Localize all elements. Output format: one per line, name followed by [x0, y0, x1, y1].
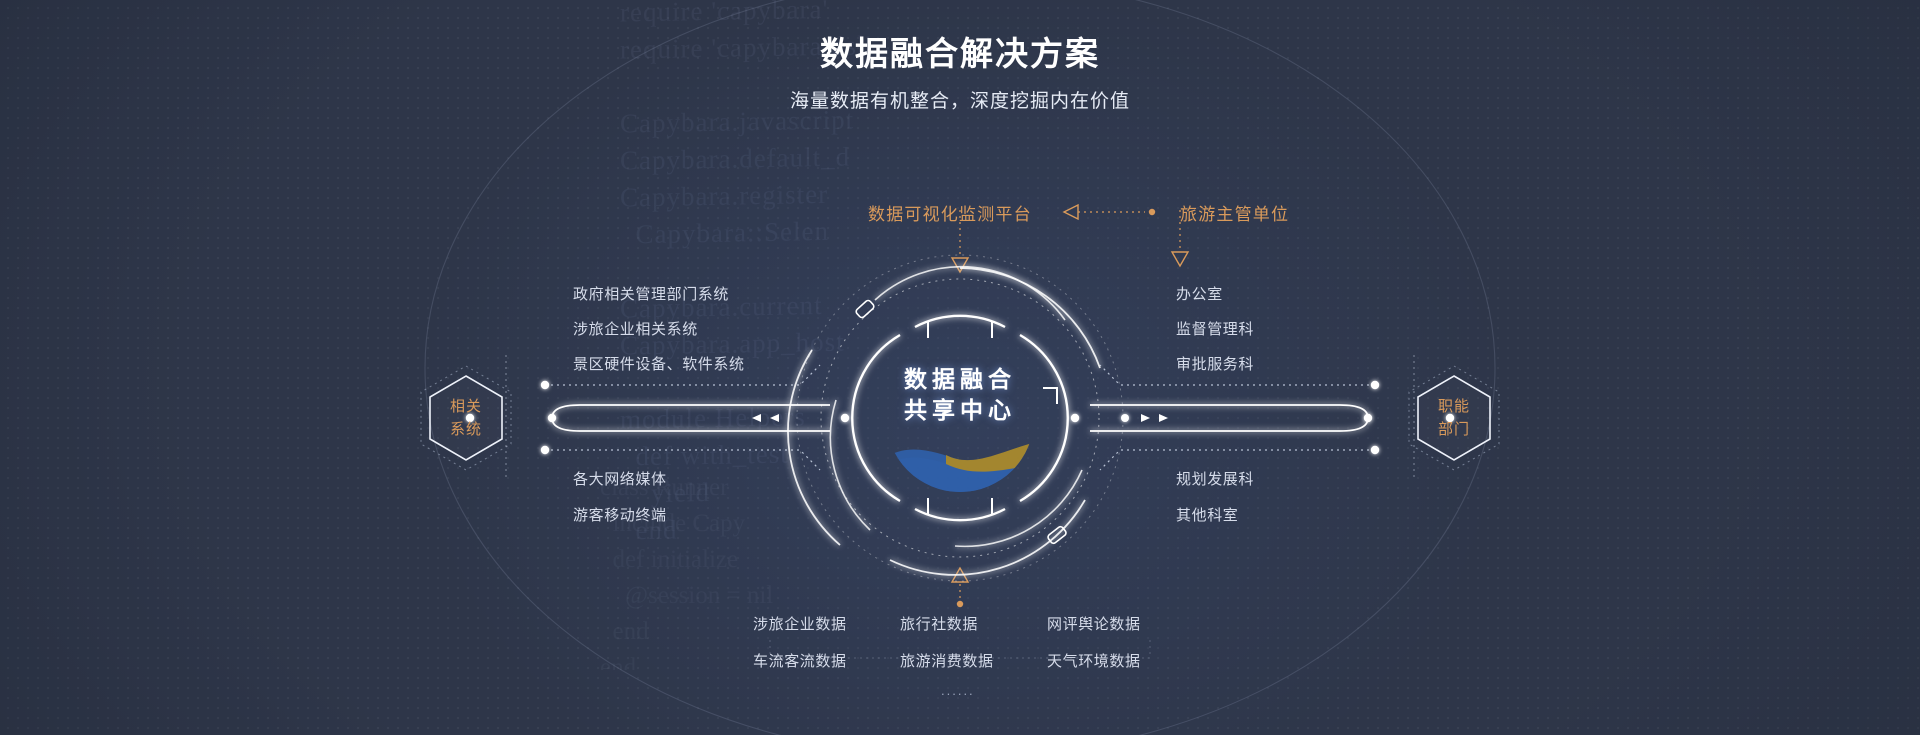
left-upper-item-0[interactable]: 政府相关管理部门系统 [573, 283, 729, 304]
hexagon-right-line2: 部门 [1406, 418, 1502, 441]
arrow-left-icon [1064, 205, 1078, 219]
bottom-item-1-0[interactable]: 旅行社数据 [900, 613, 978, 634]
left-lower-item-0[interactable]: 各大网络媒体 [573, 468, 667, 489]
bottom-item-2-1[interactable]: 天气环境数据 [1047, 650, 1141, 671]
right-lower-item-0[interactable]: 规划发展科 [1176, 468, 1254, 489]
hexagon-left-line2: 系统 [418, 418, 514, 441]
infographic-page: require 'capybara' require 'capybara/dsl… [0, 0, 1920, 735]
hexagon-related-systems[interactable]: 相关 系统 [418, 364, 514, 472]
left-upper-item-1[interactable]: 涉旅企业相关系统 [573, 318, 698, 339]
arrow-up-bottom-icon [952, 568, 968, 582]
core-hub-line2: 共享中心 [810, 395, 1110, 426]
bottom-item-1-1[interactable]: 旅游消费数据 [900, 650, 994, 671]
core-hub: 数据融合 共享中心 [810, 245, 1110, 545]
bottom-item-0-1[interactable]: 车流客流数据 [753, 650, 847, 671]
right-upper-item-0[interactable]: 办公室 [1176, 283, 1223, 304]
right-lower-item-1[interactable]: 其他科室 [1176, 504, 1238, 525]
hexagon-related-systems-text: 相关 系统 [418, 395, 514, 441]
bottom-item-0-0[interactable]: 涉旅企业数据 [753, 613, 847, 634]
hexagon-functional-departments[interactable]: 职能 部门 [1406, 364, 1502, 472]
right-upper-item-2[interactable]: 审批服务科 [1176, 353, 1254, 374]
bottom-ellipsis: ...... [941, 683, 975, 698]
left-lower-item-1[interactable]: 游客移动终端 [573, 504, 667, 525]
arrow-down-right-icon [1172, 252, 1188, 266]
label-visualization-platform[interactable]: 数据可视化监测平台 [868, 200, 1032, 225]
hexagon-left-line1: 相关 [418, 395, 514, 418]
page-header: 数据融合解决方案 海量数据有机整合，深度挖掘内在价值 [0, 32, 1920, 113]
left-upper-item-2[interactable]: 景区硬件设备、软件系统 [573, 353, 745, 374]
hexagon-functional-departments-text: 职能 部门 [1406, 395, 1502, 441]
right-upper-item-1[interactable]: 监督管理科 [1176, 318, 1254, 339]
page-subtitle: 海量数据有机整合，深度挖掘内在价值 [0, 86, 1920, 113]
hexagon-right-line1: 职能 [1406, 395, 1502, 418]
core-hub-text: 数据融合 共享中心 [810, 364, 1110, 426]
core-hub-line1: 数据融合 [810, 364, 1110, 395]
label-tourism-authority[interactable]: 旅游主管单位 [1180, 200, 1289, 225]
right-connectors [1071, 355, 1454, 480]
page-title: 数据融合解决方案 [0, 32, 1920, 76]
bottom-item-2-0[interactable]: 网评舆论数据 [1047, 613, 1141, 634]
